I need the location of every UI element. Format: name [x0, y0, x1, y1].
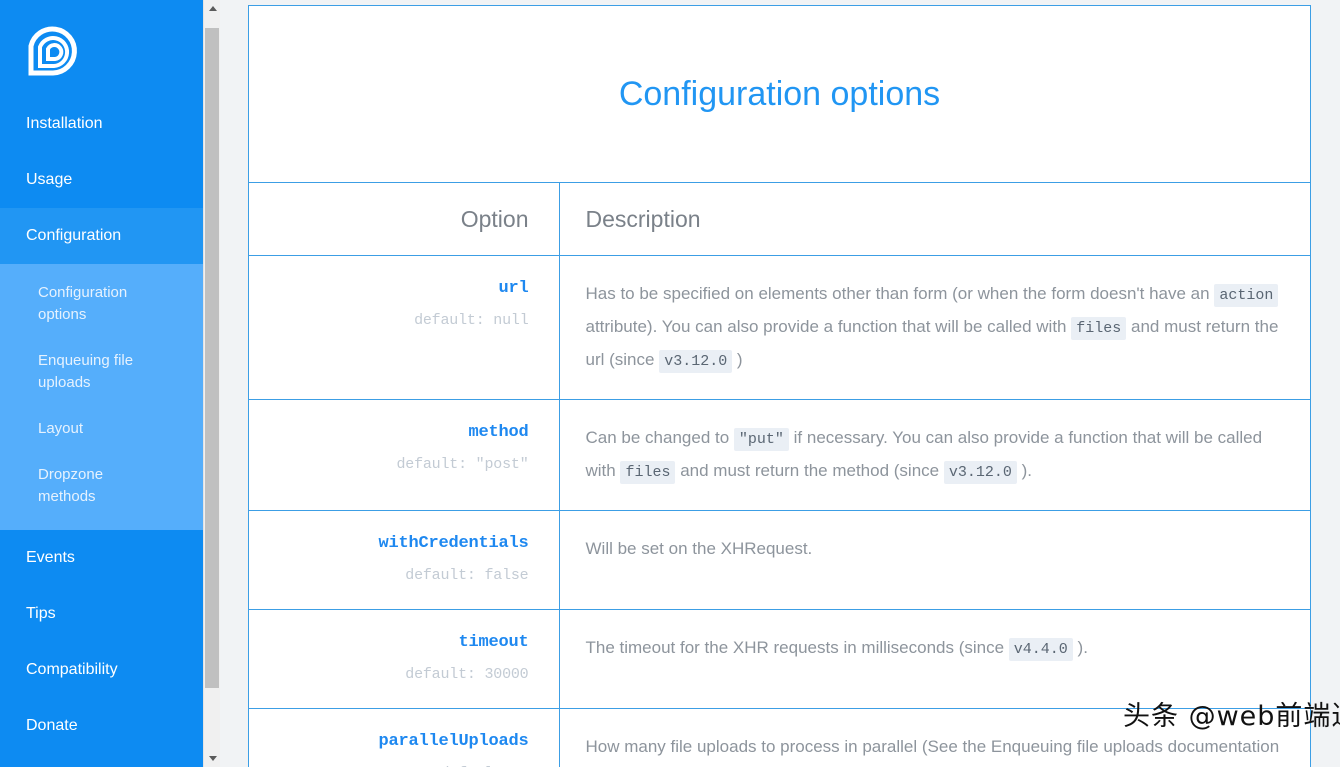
table-row: withCredentialsdefault: falseWill be set…: [249, 511, 1310, 610]
description-text: The timeout for the XHR requests in mill…: [586, 632, 1291, 665]
option-name: timeout: [265, 632, 529, 654]
page-root: Installation Usage Configuration Configu…: [0, 0, 1340, 767]
sidebar-nav: Installation Usage Configuration: [0, 96, 203, 264]
option-default: default: 30000: [265, 664, 529, 686]
description-cell: Has to be specified on elements other th…: [559, 256, 1310, 400]
description-text: How many file uploads to process in para…: [586, 731, 1291, 767]
sidebar-subnav: Configuration options Enqueuing file upl…: [0, 264, 203, 530]
sidebar-item-configuration[interactable]: Configuration: [0, 208, 203, 264]
sidebar-nav-lower: Events Tips Compatibility Donate: [0, 530, 203, 754]
description-text: Can be changed to "put" if necessary. Yo…: [586, 422, 1291, 488]
description-text: Will be set on the XHRequest.: [586, 533, 1291, 564]
sidebar-item-label: Donate: [26, 717, 78, 734]
table-row: methoddefault: "post"Can be changed to "…: [249, 400, 1310, 511]
dropzone-logo-icon: [26, 24, 80, 78]
table-row: parallelUploadsdefault: 2How many file u…: [249, 709, 1310, 767]
sidebar-subitem-label: Enqueuing file uploads: [38, 352, 133, 391]
option-default: default: null: [265, 310, 529, 332]
sidebar-subitem-configuration-options[interactable]: Configuration options: [0, 270, 170, 338]
dropzone-logo[interactable]: [0, 0, 203, 96]
scroll-up-arrow-icon[interactable]: [204, 0, 221, 17]
sidebar-item-label: Configuration: [26, 227, 121, 244]
sidebar-subitem-label: Layout: [38, 420, 83, 437]
option-default: default: "post": [265, 454, 529, 476]
main-content: Configuration options Option Description…: [221, 0, 1340, 767]
sidebar-item-label: Usage: [26, 171, 72, 188]
sidebar-item-label: Events: [26, 549, 75, 566]
sidebar-subitem-label: Configuration options: [38, 284, 127, 323]
inline-code: v3.12.0: [659, 350, 732, 373]
option-default: default: 2: [265, 763, 529, 767]
option-name: method: [265, 422, 529, 444]
column-header-description: Description: [559, 183, 1310, 256]
sidebar-item-label: Installation: [26, 115, 103, 132]
configuration-options-table: Option Description urldefault: nullHas t…: [249, 183, 1310, 767]
inline-code: files: [620, 461, 675, 484]
option-cell: timeoutdefault: 30000: [249, 610, 559, 709]
description-cell: The timeout for the XHR requests in mill…: [559, 610, 1310, 709]
sidebar-subitem-enqueuing-file-uploads[interactable]: Enqueuing file uploads: [0, 338, 170, 406]
page-title: Configuration options: [249, 6, 1310, 183]
inline-code: files: [1071, 317, 1126, 340]
inline-code: v3.12.0: [944, 461, 1017, 484]
inline-code: v4.4.0: [1009, 638, 1073, 661]
sidebar-item-usage[interactable]: Usage: [0, 152, 203, 208]
option-cell: withCredentialsdefault: false: [249, 511, 559, 610]
option-cell: parallelUploadsdefault: 2: [249, 709, 559, 767]
table-head: Option Description: [249, 183, 1310, 256]
table-body: urldefault: nullHas to be specified on e…: [249, 256, 1310, 767]
option-cell: methoddefault: "post": [249, 400, 559, 511]
option-name: url: [265, 278, 529, 300]
sidebar-item-installation[interactable]: Installation: [0, 96, 203, 152]
inline-code: "put": [734, 428, 789, 451]
table-row: timeoutdefault: 30000The timeout for the…: [249, 610, 1310, 709]
sidebar-subitem-dropzone-methods[interactable]: Dropzone methods: [0, 452, 170, 520]
scroll-down-arrow-icon[interactable]: [204, 750, 221, 767]
description-cell: How many file uploads to process in para…: [559, 709, 1310, 767]
inline-code: action: [1214, 284, 1278, 307]
sidebar-subitem-layout[interactable]: Layout: [0, 406, 170, 452]
sidebar-item-donate[interactable]: Donate: [0, 698, 203, 754]
content-card: Configuration options Option Description…: [248, 5, 1311, 767]
sidebar-item-compatibility[interactable]: Compatibility: [0, 642, 203, 698]
scrollbar-thumb[interactable]: [205, 28, 219, 688]
sidebar-item-tips[interactable]: Tips: [0, 586, 203, 642]
description-text: Has to be specified on elements other th…: [586, 278, 1291, 377]
column-header-option: Option: [249, 183, 559, 256]
option-name: parallelUploads: [265, 731, 529, 753]
sidebar: Installation Usage Configuration Configu…: [0, 0, 203, 767]
description-cell: Can be changed to "put" if necessary. Yo…: [559, 400, 1310, 511]
option-default: default: false: [265, 565, 529, 587]
sidebar-scrollbar[interactable]: [203, 0, 220, 767]
table-row: urldefault: nullHas to be specified on e…: [249, 256, 1310, 400]
table-header-row: Option Description: [249, 183, 1310, 256]
sidebar-item-label: Compatibility: [26, 661, 118, 678]
option-cell: urldefault: null: [249, 256, 559, 400]
sidebar-item-label: Tips: [26, 605, 56, 622]
description-cell: Will be set on the XHRequest.: [559, 511, 1310, 610]
sidebar-subitem-label: Dropzone methods: [38, 466, 103, 505]
option-name: withCredentials: [265, 533, 529, 555]
sidebar-item-events[interactable]: Events: [0, 530, 203, 586]
